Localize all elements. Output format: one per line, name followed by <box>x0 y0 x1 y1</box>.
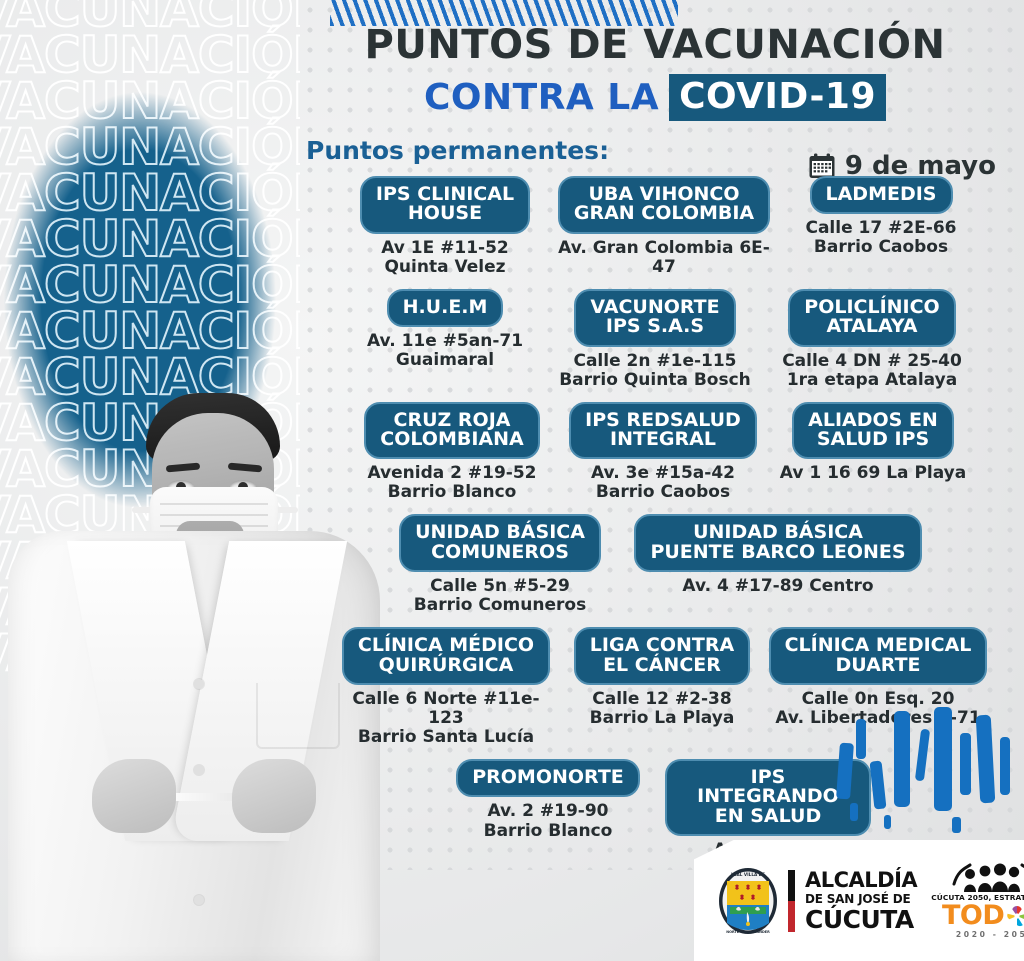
svg-text:NORTE DE SANTANDER: NORTE DE SANTANDER <box>726 930 770 934</box>
card-title: IPS REDSALUD INTEGRAL <box>569 402 757 460</box>
vaccination-point-card[interactable]: LIGA CONTRA EL CÁNCER Calle 12 #2-38 Bar… <box>573 627 751 728</box>
card-title: VACUNORTE IPS S.A.S <box>574 289 735 347</box>
cucuta-coat-of-arms-icon: LEAL VILLA DE NORTE DE SANTANDER <box>718 867 778 935</box>
card-address: Calle 6 Norte #11e-123 Barrio Santa Lucí… <box>335 690 557 747</box>
vaccination-point-card[interactable]: ALIADOS EN SALUD IPS Av 1 16 69 La Playa <box>779 402 967 484</box>
vaccination-point-card[interactable]: CRUZ ROJA COLOMBIANA Avenida 2 #19-52 Ba… <box>357 402 547 503</box>
vaccination-point-card[interactable]: H.U.E.M Av. 11e #5an-71 Guaimaral <box>353 289 537 370</box>
card-address: Av. 2 #19-90 Barrio Blanco <box>484 802 613 840</box>
footer-logos-bar: LEAL VILLA DE NORTE DE SANTANDER ALCALDÍ… <box>694 840 1024 961</box>
todos-word-pre: TOD <box>942 902 1004 929</box>
coat-button <box>194 895 204 905</box>
card-title: CLÍNICA MÉDICO QUIRÚRGICA <box>342 627 550 685</box>
vaccination-point-card[interactable]: UNIDAD BÁSICA PUENTE BARCO LEONES Av. 4 … <box>625 514 931 596</box>
todos-years: 2020 - 2050 <box>931 930 1024 939</box>
vaccination-point-card[interactable]: PROMONORTE Av. 2 #19-90 Barrio Blanco <box>453 759 643 840</box>
card-title: IPS CLINICAL HOUSE <box>360 176 530 234</box>
vaccination-point-card[interactable]: IPS REDSALUD INTEGRAL Av. 3e #15a-42 Bar… <box>565 402 761 503</box>
todos-wordmark: TOD S <box>931 902 1024 929</box>
coat-button <box>194 679 204 689</box>
card-title: UNIDAD BÁSICA PUENTE BARCO LEONES <box>634 514 921 572</box>
card-title: CLÍNICA MEDICAL DUARTE <box>769 627 988 685</box>
card-title: UBA VIHONCO GRAN COLOMBIA <box>558 176 770 234</box>
card-row: CRUZ ROJA COLOMBIANA Avenida 2 #19-52 Ba… <box>300 402 1024 503</box>
blue-paint-splash <box>824 703 1024 853</box>
card-title: LADMEDIS <box>810 176 953 214</box>
card-address: Calle 5n #5-29 Barrio Comuneros <box>414 577 586 615</box>
vaccination-point-card[interactable]: VACUNORTE IPS S.A.S Calle 2n #1e-115 Bar… <box>555 289 755 390</box>
vaccination-point-card[interactable]: POLICLÍNICO ATALAYA Calle 4 DN # 25-40 1… <box>773 289 971 390</box>
card-row: H.U.E.M Av. 11e #5an-71 Guaimaral VACUNO… <box>300 289 1024 390</box>
vaccination-point-card[interactable]: UBA VIHONCO GRAN COLOMBIA Av. Gran Colom… <box>555 176 773 277</box>
vaccination-point-card[interactable]: LADMEDIS Calle 17 #2E-66 Barrio Caobos <box>791 176 971 257</box>
alcaldia-line-1: ALCALDÍA <box>805 870 917 891</box>
permanent-points-label: Puntos permanentes: <box>306 137 609 164</box>
card-title: LIGA CONTRA EL CÁNCER <box>574 627 750 685</box>
card-address: Av 1 16 69 La Playa <box>780 464 966 483</box>
card-row: IPS CLINICAL HOUSE Av 1E #11-52 Quinta V… <box>300 176 1024 277</box>
poster-header: PUNTOS DE VACUNACIÓN CONTRA LA COVID-19 … <box>300 24 1010 181</box>
svg-text:LEAL VILLA DE: LEAL VILLA DE <box>731 872 765 877</box>
subtitle-row: CONTRA LA COVID-19 <box>300 74 1010 121</box>
alcaldia-wordmark: ALCALDÍA DE SAN JOSÉ DE CÚCUTA <box>805 870 917 932</box>
alcaldia-line-2: DE SAN JOSÉ DE <box>805 893 917 905</box>
card-title: CRUZ ROJA COLOMBIANA <box>364 402 539 460</box>
card-title: ALIADOS EN SALUD IPS <box>792 402 954 460</box>
coat-button <box>194 765 204 775</box>
card-title: H.U.E.M <box>387 289 504 327</box>
page-title: PUNTOS DE VACUNACIÓN <box>300 24 1010 66</box>
poster-root: VACUNACIÓN VACUNACIÓN VACUNACIÓN VACUNAC… <box>0 0 1024 961</box>
vaccination-point-card[interactable]: IPS CLINICAL HOUSE Av 1E #11-52 Quinta V… <box>353 176 537 277</box>
alcaldia-line-3: CÚCUTA <box>805 907 917 932</box>
card-address: Calle 17 #2E-66 Barrio Caobos <box>805 219 956 257</box>
card-address: Av. 4 #17-89 Centro <box>682 577 873 596</box>
title-contra-la: CONTRA LA <box>424 77 659 118</box>
card-title: UNIDAD BÁSICA COMUNEROS <box>399 514 601 572</box>
card-title: POLICLÍNICO ATALAYA <box>788 289 955 347</box>
people-celebrating-icon <box>950 862 1024 892</box>
card-address: Calle 12 #2-38 Barrio La Playa <box>590 690 735 728</box>
card-address: Av 1E #11-52 Quinta Velez <box>381 239 509 277</box>
alcaldia-color-bars <box>788 870 795 932</box>
vaccination-point-card[interactable]: CLÍNICA MÉDICO QUIRÚRGICA Calle 6 Norte … <box>335 627 557 747</box>
card-address: Av. 3e #15a-42 Barrio Caobos <box>591 464 735 502</box>
card-address: Av. Gran Colombia 6E-47 <box>555 239 773 277</box>
gloved-hand-left <box>92 759 176 833</box>
card-title: PROMONORTE <box>456 759 640 797</box>
vaccination-point-card[interactable]: UNIDAD BÁSICA COMUNEROS Calle 5n #5-29 B… <box>393 514 607 615</box>
subtitle-and-date-row: Puntos permanentes: <box>300 137 1010 181</box>
card-address: Calle 4 DN # 25-40 1ra etapa Atalaya <box>782 352 962 390</box>
title-covid19-badge: COVID-19 <box>669 74 886 121</box>
todos-logo: CÚCUTA 2050, ESTRATEGIA DE TOD S 2020 - … <box>931 862 1024 939</box>
card-row: UNIDAD BÁSICA COMUNEROS Calle 5n #5-29 B… <box>300 514 1024 615</box>
card-address: Avenida 2 #19-52 Barrio Blanco <box>367 464 536 502</box>
pinwheel-icon <box>1005 904 1024 928</box>
card-address: Av. 11e #5an-71 Guaimaral <box>367 332 523 370</box>
card-address: Calle 2n #1e-115 Barrio Quinta Bosch <box>559 352 751 390</box>
